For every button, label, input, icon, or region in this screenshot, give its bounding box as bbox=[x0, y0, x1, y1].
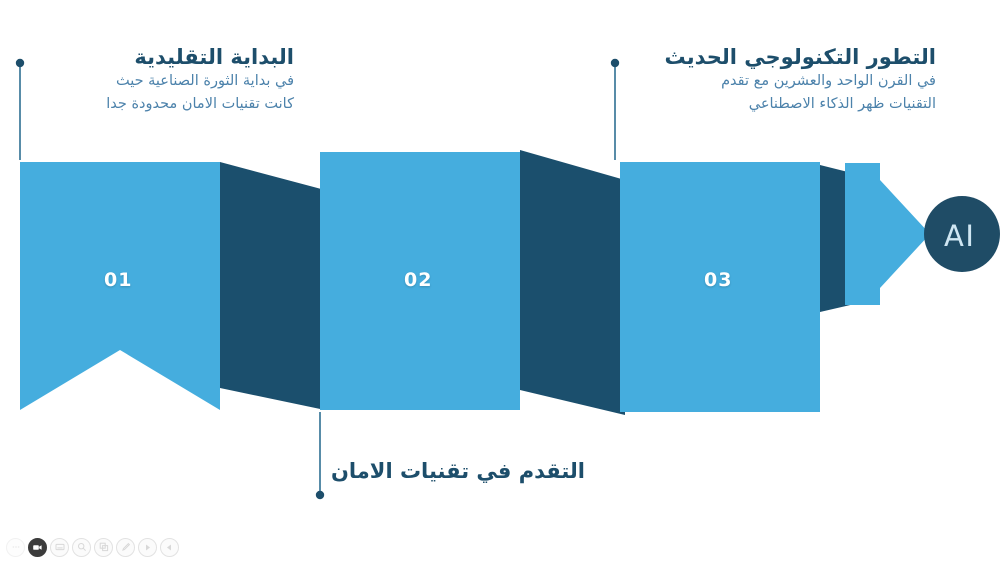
previous-slide-button[interactable] bbox=[160, 538, 179, 557]
connector-right bbox=[611, 59, 619, 160]
callout-modern-technology: التطور التكنولوجي الحديث في القرن الواحد… bbox=[636, 44, 936, 115]
ellipsis-icon bbox=[11, 542, 21, 552]
record-button[interactable] bbox=[28, 538, 47, 557]
step-number-03: 03 bbox=[704, 269, 732, 291]
zoom-button[interactable] bbox=[72, 538, 91, 557]
callout-right-title: التطور التكنولوجي الحديث bbox=[636, 44, 936, 70]
pen-tool-button[interactable] bbox=[116, 538, 135, 557]
callout-right-body-line1: في القرن الواحد والعشرين مع تقدم bbox=[636, 70, 936, 92]
slide-canvas: البداية التقليدية في بداية الثورة الصناع… bbox=[0, 0, 1000, 562]
connector-bottom bbox=[316, 412, 324, 499]
triangle-right-icon bbox=[143, 543, 152, 552]
callout-left-body-line1: في بداية الثورة الصناعية حيث bbox=[14, 70, 294, 92]
presentation-control-strip[interactable] bbox=[6, 536, 179, 558]
step-number-01: 01 bbox=[104, 269, 132, 291]
all-slides-button[interactable] bbox=[94, 538, 113, 557]
ribbon-fold-2 bbox=[520, 150, 625, 415]
ribbon-fold-1 bbox=[220, 162, 325, 410]
triangle-left-icon bbox=[165, 543, 174, 552]
connector-dot-right bbox=[611, 59, 619, 67]
progress-arrow bbox=[845, 163, 930, 305]
caption-icon bbox=[55, 542, 65, 552]
callout-traditional-beginning: البداية التقليدية في بداية الثورة الصناع… bbox=[14, 44, 294, 115]
grid-icon bbox=[99, 542, 109, 552]
subtitles-button[interactable] bbox=[50, 538, 69, 557]
callout-bottom-title: التقدم في تقنيات الامان bbox=[325, 458, 585, 484]
callout-right-body-line2: التقنيات ظهر الذكاء الاصطناعي bbox=[636, 93, 936, 115]
pen-icon bbox=[121, 542, 131, 552]
play-slide-button[interactable] bbox=[138, 538, 157, 557]
more-options-button[interactable] bbox=[6, 538, 25, 557]
callout-left-body-line2: كانت تقنيات الامان محدودة جدا bbox=[14, 93, 294, 115]
video-camera-icon bbox=[32, 542, 43, 553]
connector-dot-bottom bbox=[316, 491, 324, 499]
magnifier-icon bbox=[77, 542, 87, 552]
callout-left-title: البداية التقليدية bbox=[14, 44, 294, 70]
ai-badge-label: AI bbox=[944, 219, 975, 253]
callout-security-progress: التقدم في تقنيات الامان bbox=[325, 458, 585, 484]
step-number-02: 02 bbox=[404, 269, 432, 291]
